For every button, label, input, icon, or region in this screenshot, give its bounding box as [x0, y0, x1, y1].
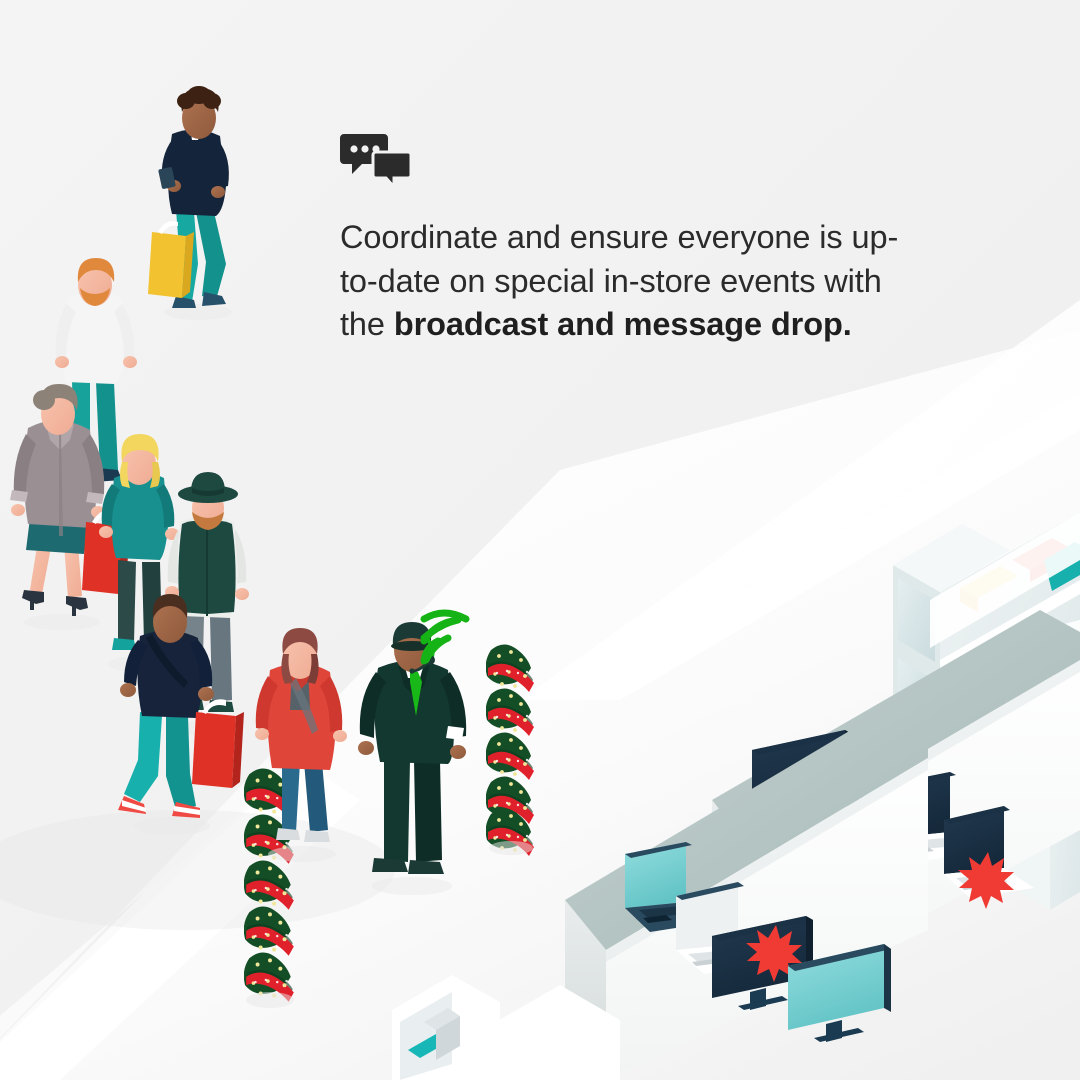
red-shopping-bag-2	[192, 699, 244, 788]
illustration-canvas: Coordinate and ensure everyone is up-to-…	[0, 0, 1080, 1080]
headline-text: Coordinate and ensure everyone is up-to-…	[340, 216, 900, 347]
figure-shopper-phone	[148, 86, 232, 320]
figure-shopper-red-coat	[255, 628, 347, 862]
message-block: Coordinate and ensure everyone is up-to-…	[340, 132, 900, 347]
headline-emphasis: broadcast and message drop.	[394, 306, 852, 342]
chat-bubbles-icon	[340, 132, 412, 190]
figure-store-associate	[358, 613, 466, 895]
